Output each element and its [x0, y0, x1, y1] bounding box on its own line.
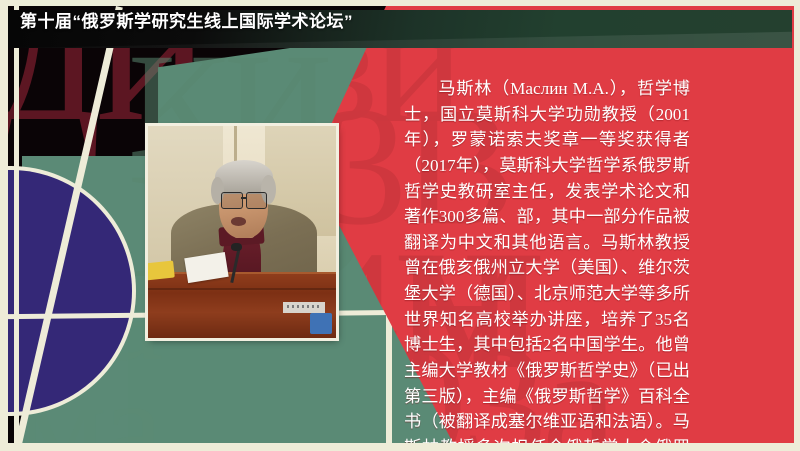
photo-blue-object	[310, 313, 333, 334]
slide-title: 第十届“俄罗斯学研究生线上国际学术论坛”	[20, 7, 353, 32]
photo-speaker-mouth	[231, 217, 246, 225]
divider-bottom	[0, 444, 800, 451]
divider-vertical-left	[14, 6, 19, 443]
slide-canvas: ди ге КИ МО ма ма ви 3В 4М Н 403a	[8, 6, 794, 443]
title-bar-sheen	[8, 32, 792, 48]
photo-yellow-folder	[148, 260, 175, 280]
presentation-slide: ди ге КИ МО ма ма ви 3В 4М Н 403a	[0, 0, 800, 451]
photo-glasses-left-lens	[221, 192, 243, 209]
photo-microphone-head	[231, 243, 242, 251]
photo-book-on-podium	[283, 302, 324, 313]
speaker-photo-image	[148, 126, 336, 338]
photo-glasses-bridge	[241, 197, 247, 199]
speaker-biography-text: 马斯林（Маслин М.А.），哲学博士，国立莫斯科大学功勋教授（2001年）…	[404, 76, 690, 443]
divider-vertical-mid	[386, 306, 392, 443]
speaker-photo	[148, 126, 336, 338]
photo-glasses-right-lens	[246, 192, 268, 209]
